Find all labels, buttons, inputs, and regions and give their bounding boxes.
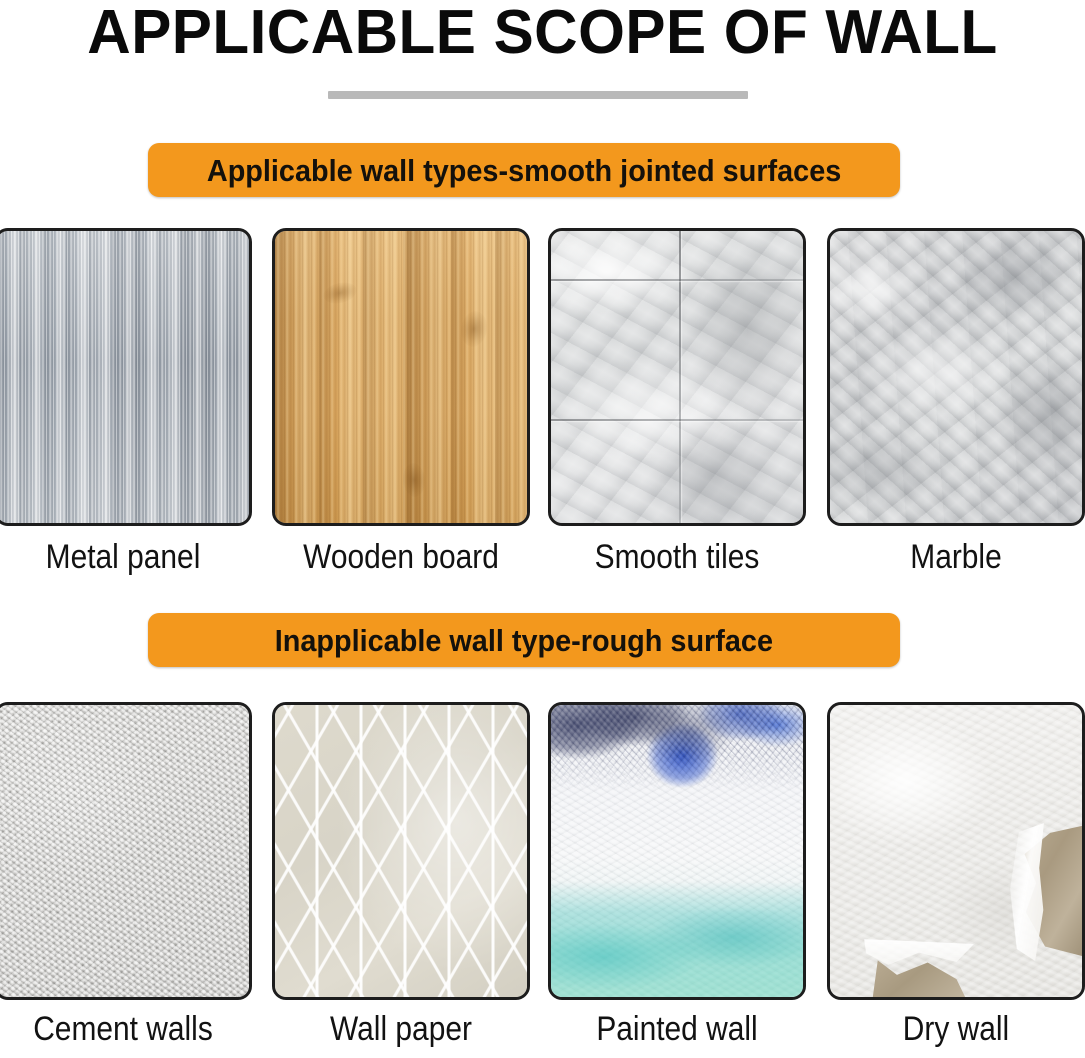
grout-line-vertical — [679, 231, 681, 523]
peeling-paint-texture — [830, 705, 1082, 997]
swatch-frame — [0, 228, 252, 526]
title-divider — [328, 91, 748, 99]
swatch-frame — [827, 702, 1085, 1000]
caption-painted-wall: Painted wall — [563, 1008, 790, 1050]
caption-metal-panel: Metal panel — [9, 536, 236, 578]
inapplicable-swatch-row — [0, 702, 1085, 1002]
grout-line-horizontal — [551, 279, 803, 281]
teal-paint-wash — [548, 881, 806, 1000]
wood-knot-icon — [402, 462, 427, 498]
swatch-cement-walls — [0, 702, 252, 1000]
wood-knot-icon — [458, 309, 489, 349]
peeling-flap-right — [1010, 817, 1044, 967]
wood-knot-icon — [321, 279, 359, 307]
swatch-frame — [0, 702, 252, 1000]
watercolor-paint-texture — [551, 705, 803, 997]
caption-cement-walls: Cement walls — [9, 1008, 236, 1050]
grout-line-horizontal — [551, 419, 803, 421]
caption-marble: Marble — [842, 536, 1069, 578]
caption-smooth-tiles: Smooth tiles — [563, 536, 790, 578]
paint-speckle — [548, 702, 806, 791]
swatch-wall-paper — [272, 702, 530, 1000]
swatch-wooden-board — [272, 228, 530, 526]
marble-slab-texture — [830, 231, 1082, 523]
inapplicable-caption-row: Cement walls Wall paper Painted wall Dry… — [0, 1008, 1085, 1058]
swatch-dry-wall — [827, 702, 1085, 1000]
swatch-frame — [548, 702, 806, 1000]
swatch-frame — [272, 228, 530, 526]
caption-wall-paper: Wall paper — [287, 1008, 514, 1050]
swatch-frame — [272, 702, 530, 1000]
bamboo-wood-texture — [275, 231, 527, 523]
page-title: APPLICABLE SCOPE OF WALL — [16, 0, 1068, 68]
section-banner-inapplicable-label: Inapplicable wall type-rough surface — [275, 625, 773, 656]
swatch-frame — [827, 228, 1085, 526]
applicable-swatch-row — [0, 228, 1085, 528]
applicable-caption-row: Metal panel Wooden board Smooth tiles Ma… — [0, 536, 1085, 586]
triangle-lattice-texture — [275, 705, 527, 997]
caption-wooden-board: Wooden board — [287, 536, 514, 578]
section-banner-applicable-label: Applicable wall types-smooth jointed sur… — [207, 155, 841, 186]
section-banner-applicable: Applicable wall types-smooth jointed sur… — [148, 143, 900, 197]
swatch-frame — [548, 228, 806, 526]
swatch-metal-panel — [0, 228, 252, 526]
section-banner-inapplicable: Inapplicable wall type-rough surface — [148, 613, 900, 667]
brushed-metal-texture — [0, 231, 249, 523]
swatch-painted-wall — [548, 702, 806, 1000]
swatch-marble — [827, 228, 1085, 526]
caption-dry-wall: Dry wall — [842, 1008, 1069, 1050]
popcorn-stipple-texture — [0, 705, 249, 997]
swatch-smooth-tiles — [548, 228, 806, 526]
tiled-marble-texture — [551, 231, 803, 523]
